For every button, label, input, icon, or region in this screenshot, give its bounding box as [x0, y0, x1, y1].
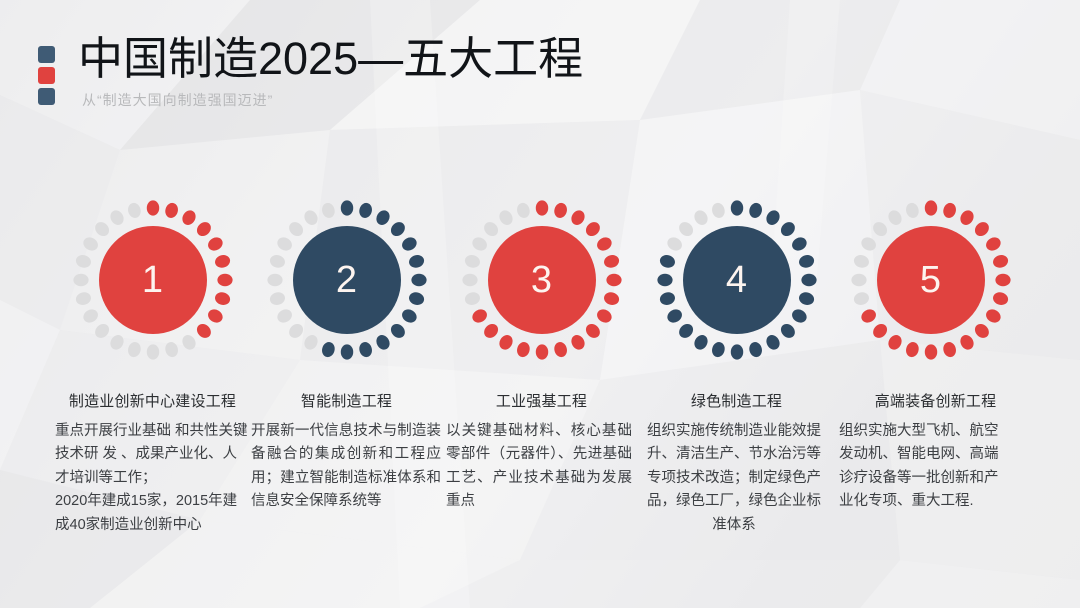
ring-dot-active — [941, 341, 957, 359]
ring-dot-active — [194, 219, 214, 239]
ring-dot-active — [763, 208, 781, 227]
ring-dot-active — [858, 307, 877, 325]
ring-dot-active — [658, 253, 676, 269]
ring-dot-inactive — [904, 201, 920, 219]
progress-ring-3: 3 — [444, 178, 639, 384]
ring-dot-active — [747, 201, 763, 219]
ring-dot-active — [957, 333, 975, 352]
ring-dot-inactive — [301, 208, 319, 227]
ring-dot-inactive — [481, 219, 501, 239]
ring-dot-active — [972, 321, 992, 341]
column-heading: 智能制造工程 — [249, 390, 444, 411]
ring-dot-active — [373, 208, 391, 227]
ring-dot-inactive — [163, 341, 179, 359]
progress-ring-5: 5 — [833, 178, 1028, 384]
progress-ring-4: 4 — [639, 178, 834, 384]
ring-dot-active — [399, 235, 418, 253]
ring-dot-active — [552, 341, 568, 359]
ring-dot-active — [213, 291, 231, 307]
ring-dot-inactive — [92, 321, 112, 341]
ring-dot-active — [801, 274, 816, 286]
engineering-columns: 1制造业创新中心建设工程重点开展行业基础 和共性关键技术研 发 、成果产业化、人… — [0, 178, 1080, 598]
ring-dot-inactive — [469, 235, 488, 253]
column-body-text: 开展新一代信息技术与制造装备融合的集成创新和工程应用；建立智能制造标准体系和信息… — [251, 420, 441, 514]
ring-dot-inactive — [107, 208, 125, 227]
brand-mark-bottom — [38, 88, 55, 105]
ring-dot-active — [320, 341, 336, 359]
ring-dot-active — [407, 291, 425, 307]
ring-dot-active — [789, 235, 808, 253]
ring-dot-active — [583, 321, 603, 341]
ring-dot-active — [870, 321, 890, 341]
ring-dot-active — [481, 321, 501, 341]
ring-dot-inactive — [462, 274, 477, 286]
step-number-badge-3[interactable]: 3 — [488, 226, 596, 334]
ring-dot-inactive — [92, 219, 112, 239]
progress-ring-2: 2 — [249, 178, 444, 384]
ring-dot-active — [710, 341, 726, 359]
column-heading: 工业强基工程 — [444, 390, 639, 411]
ring-dot-inactive — [274, 235, 293, 253]
column-heading: 高端装备创新工程 — [833, 390, 1038, 411]
ring-dot-inactive — [463, 253, 481, 269]
engineering-column-1[interactable]: 1制造业创新中心建设工程重点开展行业基础 和共性关键技术研 发 、成果产业化、人… — [55, 178, 250, 384]
ring-dot-inactive — [885, 208, 903, 227]
brand-mark-top — [38, 46, 55, 63]
ring-dot-active — [995, 274, 1010, 286]
ring-dot-active — [941, 201, 957, 219]
ring-dot-active — [146, 200, 158, 215]
ring-dot-active — [658, 291, 676, 307]
ring-dot-active — [515, 341, 531, 359]
engineering-column-3[interactable]: 3工业强基工程以关键基础材料、核心基础零部件（元器件）、先进基础工艺、产业技术基… — [444, 178, 639, 384]
ring-dot-inactive — [179, 333, 197, 352]
ring-dot-active — [340, 344, 352, 359]
ring-dot-active — [606, 274, 621, 286]
ring-dot-active — [730, 200, 742, 215]
ring-dot-inactive — [710, 201, 726, 219]
ring-dot-active — [657, 274, 672, 286]
step-number-label: 2 — [336, 261, 357, 299]
step-number-badge-5[interactable]: 5 — [877, 226, 985, 334]
ring-dot-active — [730, 344, 742, 359]
ring-dot-inactive — [126, 201, 142, 219]
ring-dot-active — [602, 291, 620, 307]
ring-dot-active — [747, 341, 763, 359]
ring-dot-active — [602, 253, 620, 269]
column-body-text: 组织实施传统制造业能效提升、清洁生产、节水治污等专项技术改造；制定绿色产品，绿色… — [641, 420, 827, 537]
ring-dot-active — [411, 274, 426, 286]
page-subtitle: 从“制造大国向制造强国迈进” — [82, 90, 273, 110]
ring-dot-inactive — [107, 333, 125, 352]
ring-dot-active — [763, 333, 781, 352]
ring-dot-active — [885, 333, 903, 352]
ring-dot-active — [205, 307, 224, 325]
ring-dot-active — [340, 200, 352, 215]
ring-dot-active — [957, 208, 975, 227]
ring-dot-active — [778, 321, 798, 341]
ring-dot-active — [991, 291, 1009, 307]
ring-dot-active — [535, 344, 547, 359]
ring-dot-active — [691, 333, 709, 352]
ring-dot-active — [924, 200, 936, 215]
ring-dot-inactive — [858, 235, 877, 253]
ring-dot-active — [583, 219, 603, 239]
ring-dot-active — [983, 235, 1002, 253]
ring-dot-active — [535, 200, 547, 215]
ring-dot-active — [676, 321, 696, 341]
ring-dot-inactive — [73, 274, 88, 286]
ring-dot-inactive — [146, 344, 158, 359]
ring-dot-active — [983, 307, 1002, 325]
engineering-column-4[interactable]: 4绿色制造工程组织实施传统制造业能效提升、清洁生产、节水治污等专项技术改造；制定… — [639, 178, 834, 384]
ring-dot-inactive — [463, 291, 481, 307]
header: 中国制造2025—五大工程 从“制造大国向制造强国迈进” — [0, 0, 1080, 130]
ring-dot-active — [179, 208, 197, 227]
ring-dot-inactive — [852, 291, 870, 307]
column-body-text: 组织实施大型飞机、航空发动机、智能电网、高端诊疗设备等一批创新和产业化专项、重大… — [839, 420, 1009, 514]
ring-dot-inactive — [80, 307, 99, 325]
column-body-text: 以关键基础材料、核心基础零部件（元器件）、先进基础工艺、产业技术基础为发展重点 — [446, 420, 632, 514]
ring-dot-active — [373, 333, 391, 352]
ring-dot-active — [904, 341, 920, 359]
ring-dot-inactive — [676, 219, 696, 239]
ring-dot-inactive — [691, 208, 709, 227]
ring-dot-inactive — [74, 253, 92, 269]
progress-ring-1: 1 — [55, 178, 250, 384]
step-number-badge-2[interactable]: 2 — [293, 226, 401, 334]
ring-dot-active — [205, 235, 224, 253]
ring-dot-inactive — [496, 208, 514, 227]
ring-dot-active — [552, 201, 568, 219]
ring-dot-active — [469, 307, 488, 325]
ring-dot-inactive — [852, 253, 870, 269]
brand-mark-middle — [38, 67, 55, 84]
step-number-label: 4 — [726, 261, 747, 299]
column-heading: 制造业创新中心建设工程 — [45, 390, 260, 411]
ring-dot-active — [407, 253, 425, 269]
ring-dot-inactive — [80, 235, 99, 253]
ring-dot-inactive — [268, 291, 286, 307]
ring-dot-active — [594, 235, 613, 253]
ring-dot-active — [568, 333, 586, 352]
ring-dot-active — [797, 253, 815, 269]
ring-dot-active — [797, 291, 815, 307]
ring-dot-inactive — [274, 307, 293, 325]
engineering-column-5[interactable]: 5高端装备创新工程组织实施大型飞机、航空发动机、智能电网、高端诊疗设备等一批创新… — [833, 178, 1028, 384]
ring-dot-active — [213, 253, 231, 269]
ring-dot-active — [399, 307, 418, 325]
ring-dot-inactive — [851, 274, 866, 286]
ring-dot-inactive — [301, 333, 319, 352]
ring-dot-active — [217, 274, 232, 286]
step-number-label: 3 — [531, 261, 552, 299]
engineering-column-2[interactable]: 2智能制造工程开展新一代信息技术与制造装备融合的集成创新和工程应用；建立智能制造… — [249, 178, 444, 384]
brand-marks — [38, 46, 55, 105]
ring-dot-inactive — [74, 291, 92, 307]
slide-canvas: 中国制造2025—五大工程 从“制造大国向制造强国迈进” 1制造业创新中心建设工… — [0, 0, 1080, 608]
column-heading: 绿色制造工程 — [639, 390, 834, 411]
ring-dot-inactive — [320, 201, 336, 219]
ring-dot-inactive — [515, 201, 531, 219]
ring-dot-active — [991, 253, 1009, 269]
ring-dot-active — [924, 344, 936, 359]
ring-dot-inactive — [268, 253, 286, 269]
ring-dot-active — [163, 201, 179, 219]
ring-dot-inactive — [664, 235, 683, 253]
step-number-label: 1 — [142, 261, 163, 299]
ring-dot-active — [778, 219, 798, 239]
step-number-label: 5 — [920, 261, 941, 299]
ring-dot-active — [789, 307, 808, 325]
ring-dot-active — [496, 333, 514, 352]
ring-dot-inactive — [126, 341, 142, 359]
step-number-badge-1[interactable]: 1 — [99, 226, 207, 334]
ring-dot-inactive — [870, 219, 890, 239]
ring-dot-active — [388, 219, 408, 239]
ring-dot-active — [357, 341, 373, 359]
ring-dot-active — [388, 321, 408, 341]
ring-dot-active — [194, 321, 214, 341]
ring-dot-inactive — [286, 321, 306, 341]
ring-dot-active — [664, 307, 683, 325]
page-title: 中国制造2025—五大工程 — [78, 34, 583, 84]
step-number-badge-4[interactable]: 4 — [683, 226, 791, 334]
ring-dot-active — [972, 219, 992, 239]
ring-dot-active — [568, 208, 586, 227]
ring-dot-active — [357, 201, 373, 219]
ring-dot-active — [594, 307, 613, 325]
ring-dot-inactive — [286, 219, 306, 239]
column-body-text: 重点开展行业基础 和共性关键技术研 发 、成果产业化、人才培训等工作；2020年… — [55, 420, 249, 537]
ring-dot-inactive — [267, 274, 282, 286]
